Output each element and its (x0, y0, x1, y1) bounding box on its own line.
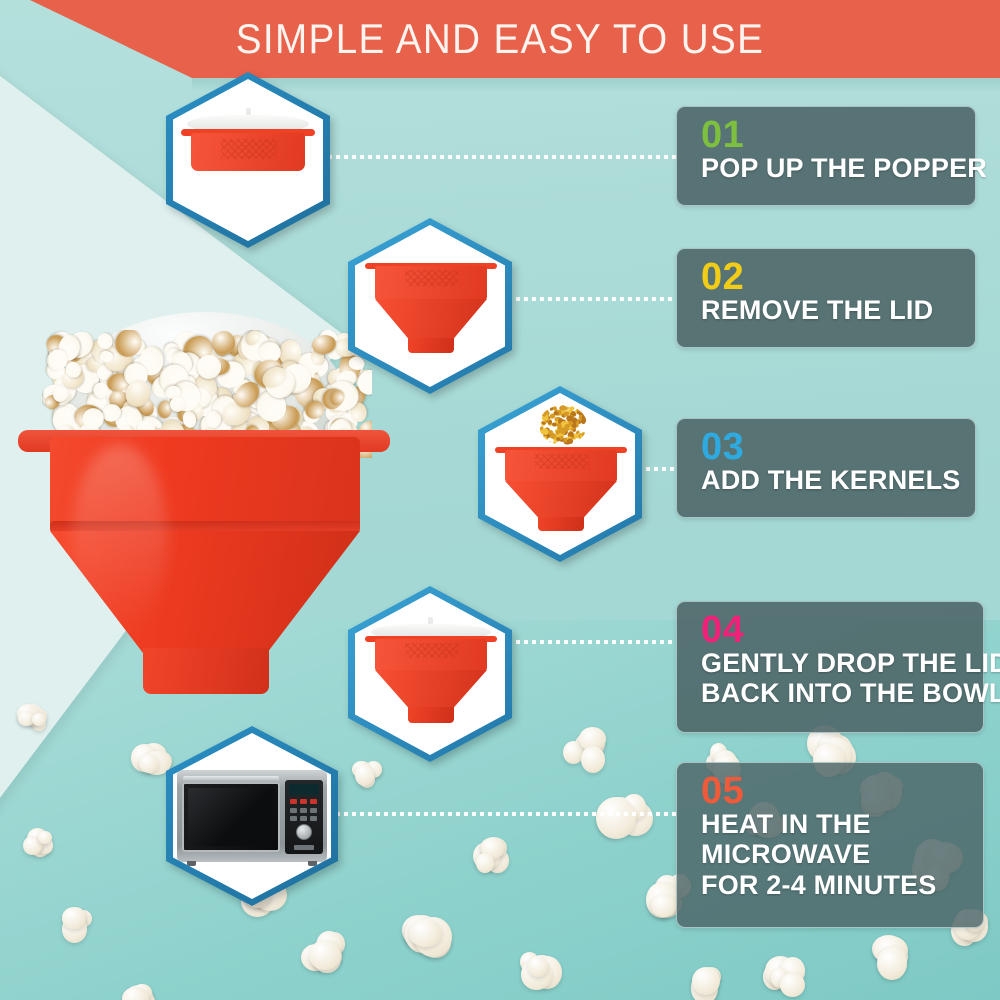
step-card-1[interactable]: 01 POP UP THE POPPER (676, 106, 976, 206)
step-text-2: REMOVE THE LID (701, 295, 975, 325)
popcorn-piece (760, 952, 806, 998)
hex-thumb-step-3 (478, 386, 642, 562)
thumb-microwave (177, 770, 327, 862)
popcorn-piece (596, 782, 654, 840)
step-text-5: HEAT IN THE MICROWAVE FOR 2-4 MINUTES (701, 809, 983, 900)
popcorn-piece (352, 760, 386, 794)
step-number-1: 01 (701, 117, 975, 153)
step-number-3: 03 (701, 429, 975, 465)
infographic-canvas: SIMPLE AND EASY TO USE (0, 0, 1000, 1000)
step-number-5: 05 (701, 773, 983, 809)
connector-step-2 (500, 297, 676, 301)
popcorn-piece (60, 905, 104, 949)
microwave-control-panel (285, 780, 323, 854)
popcorn-piece (520, 950, 564, 994)
popcorn-piece (300, 930, 346, 976)
popcorn-piece (866, 930, 916, 980)
step-text-1: POP UP THE POPPER (701, 153, 975, 183)
popcorn-piece (470, 836, 510, 876)
step-text-3: ADD THE KERNELS (701, 465, 975, 495)
connector-step-4 (500, 640, 676, 644)
step-card-4[interactable]: 04 GENTLY DROP THE LID BACK INTO THE BOW… (676, 601, 984, 733)
step-card-3[interactable]: 03 ADD THE KERNELS (676, 418, 976, 518)
hero-bowl-base (143, 648, 269, 694)
connector-step-1 (320, 155, 676, 159)
corn-kernels (539, 405, 587, 445)
popcorn-piece (680, 962, 722, 1000)
step-text-4: GENTLY DROP THE LID BACK INTO THE BOWL (701, 648, 983, 708)
hero-product-image (10, 312, 400, 712)
hero-highlight (72, 444, 168, 634)
step-card-5[interactable]: 05 HEAT IN THE MICROWAVE FOR 2-4 MINUTES (676, 762, 984, 928)
step-card-2[interactable]: 02 REMOVE THE LID (676, 248, 976, 348)
connector-step-5 (320, 812, 676, 816)
hex-thumb-step-2 (348, 218, 512, 394)
step-number-2: 02 (701, 259, 975, 295)
popcorn-piece (120, 975, 160, 1000)
popcorn-piece (560, 726, 606, 772)
hex-thumb-step-5 (166, 726, 338, 906)
hex-thumb-step-1 (166, 72, 330, 248)
step-number-4: 04 (701, 612, 983, 648)
popcorn-piece (402, 905, 456, 959)
popcorn-piece (20, 820, 56, 856)
page-title: SIMPLE AND EASY TO USE (40, 0, 960, 78)
hex-thumb-step-4 (348, 586, 512, 762)
